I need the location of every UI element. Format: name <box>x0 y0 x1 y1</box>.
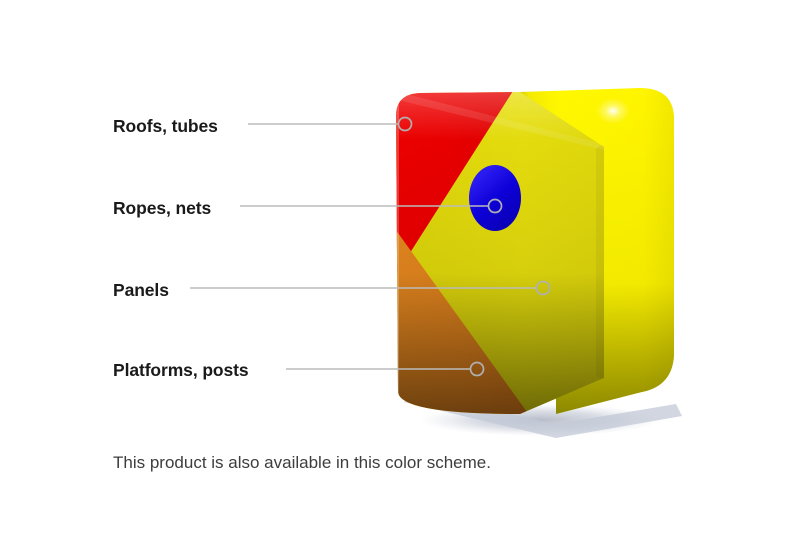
callout-label-ropes-nets: Ropes, nets <box>113 200 211 218</box>
callout-label-panels: Panels <box>113 282 169 300</box>
figure-caption: This product is also available in this c… <box>113 454 491 471</box>
blue-accent-dot <box>469 165 521 231</box>
callout-label-platforms-posts: Platforms, posts <box>113 362 249 380</box>
diagram-canvas: Roofs, tubes Ropes, nets Panels Platform… <box>0 0 800 533</box>
callout-label-roofs-tubes: Roofs, tubes <box>113 118 218 136</box>
